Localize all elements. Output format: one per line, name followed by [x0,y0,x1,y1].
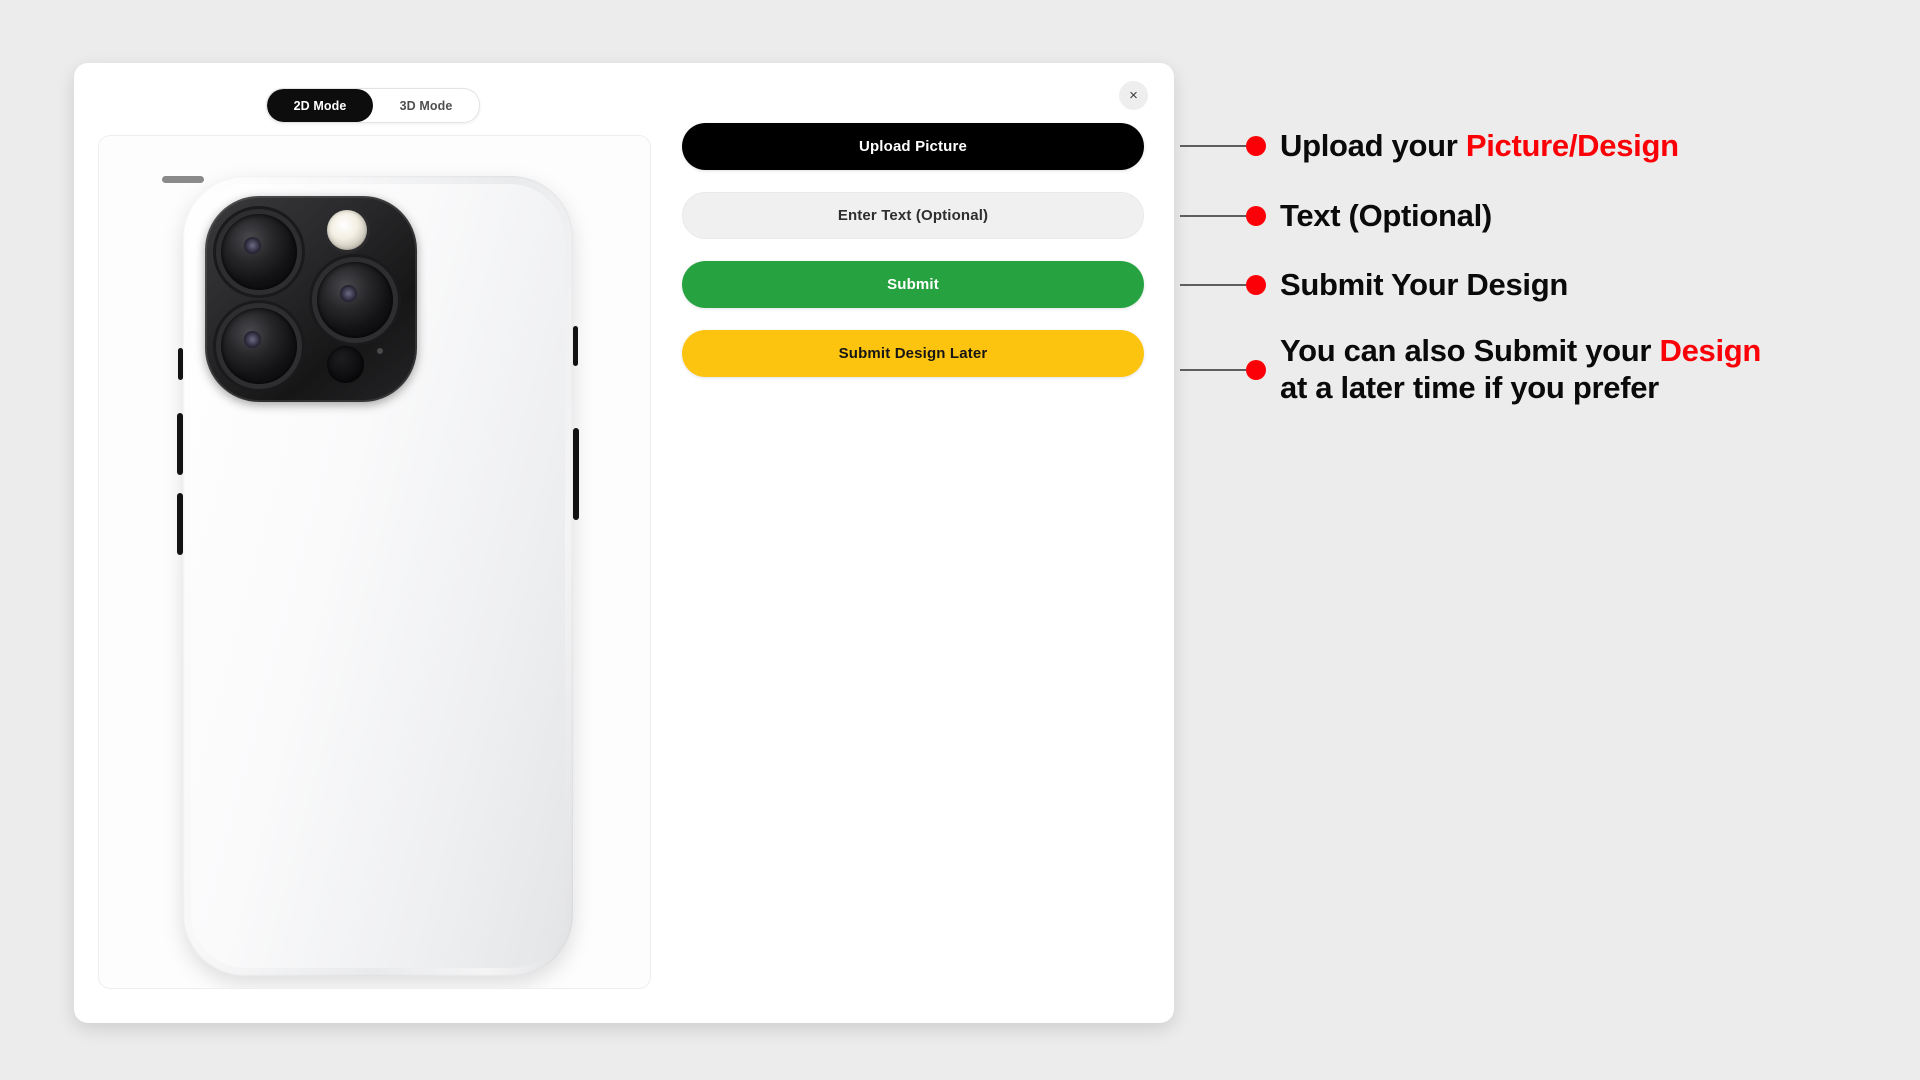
annotation-leader-line [1180,369,1246,371]
annotation-submit: Submit Your Design [1180,267,1568,304]
annotation-text-highlight: Design [1660,333,1762,368]
action-button-icon [573,326,578,366]
annotation-upload: Upload your Picture/Design [1180,128,1679,165]
product-preview-canvas[interactable] [98,135,651,989]
annotation-leader-line [1180,145,1246,147]
volume-down-button-icon [177,493,183,555]
camera-flash-icon [327,210,367,250]
annotation-text: Text (Optional) [1280,198,1492,235]
annotation-text-plain: Upload your [1280,128,1466,163]
annotation-text-plain: Submit Your Design [1280,267,1568,302]
action-button-stack: Upload Picture Enter Text (Optional) Sub… [682,123,1144,399]
annotation-text-optional: Text (Optional) [1180,198,1492,235]
annotation-text: Submit Your Design [1280,267,1568,304]
charging-port-icon [162,176,204,183]
annotation-leader-line [1180,215,1246,217]
camera-lens-icon [221,214,297,290]
mute-switch-icon [178,348,183,380]
design-modal: 2D Mode 3D Mode × [74,63,1174,1023]
volume-up-button-icon [177,413,183,475]
mode-tab-2d[interactable]: 2D Mode [267,89,373,122]
close-icon[interactable]: × [1119,81,1148,110]
submit-button[interactable]: Submit [682,261,1144,308]
annotation-text: Upload your Picture/Design [1280,128,1679,165]
annotation-bullet-dot [1246,136,1266,156]
submit-design-later-button[interactable]: Submit Design Later [682,330,1144,377]
annotation-text: You can also Submit your Design at a lat… [1280,333,1900,406]
screenshot-canvas: 2D Mode 3D Mode × [0,0,1920,1080]
microphone-icon [377,348,383,354]
annotation-text-plain: Text (Optional) [1280,198,1492,233]
camera-island [205,196,417,402]
annotation-leader-line [1180,284,1246,286]
annotation-bullet-dot [1246,275,1266,295]
annotation-text-plain: at a later time if you prefer [1280,370,1659,405]
annotation-bullet-dot [1246,360,1266,380]
upload-picture-button[interactable]: Upload Picture [682,123,1144,170]
annotation-text-highlight: Picture/Design [1466,128,1679,163]
mode-toggle-group[interactable]: 2D Mode 3D Mode [266,88,480,123]
mode-tab-3d[interactable]: 3D Mode [373,89,479,122]
annotation-bullet-dot [1246,206,1266,226]
camera-lens-icon [317,262,393,338]
lidar-sensor-icon [327,346,364,383]
camera-lens-icon [221,308,297,384]
annotation-submit-later: You can also Submit your Design at a lat… [1180,333,1900,406]
power-button-icon [573,428,579,520]
phone-case-mockup [183,176,573,976]
enter-text-button[interactable]: Enter Text (Optional) [682,192,1144,239]
annotation-text-plain: You can also Submit your [1280,333,1660,368]
